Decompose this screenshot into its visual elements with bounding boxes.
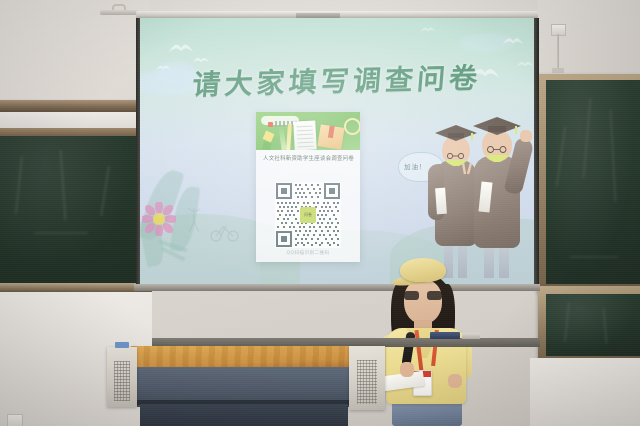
document-icon xyxy=(293,120,316,150)
graduate-glasses-icon xyxy=(446,146,466,152)
projected-slide: 请大家填写调查问卷 人文社科新资助学生座谈会调查问卷 xyxy=(140,18,534,284)
classroom-photo: 请大家填写调查问卷 人文社科新资助学生座谈会调查问卷 xyxy=(0,0,640,426)
desk-object-light xyxy=(462,333,480,339)
pencil-icon xyxy=(286,124,292,150)
lectern-lower-panel xyxy=(140,404,348,426)
screen-mount xyxy=(100,10,138,15)
book-icon xyxy=(317,124,344,149)
power-outlet[interactable] xyxy=(7,414,23,426)
bicycle-silhouette-icon xyxy=(210,222,240,247)
presenter-cap xyxy=(400,258,446,282)
wall-trim-rail-left xyxy=(0,100,152,112)
graduate-glasses-icon xyxy=(486,140,508,147)
presenter-face xyxy=(404,280,442,324)
upper-wall-left xyxy=(0,0,150,104)
fixture-base xyxy=(552,68,564,73)
speaker-right xyxy=(349,346,385,410)
clock-icon xyxy=(344,118,360,135)
presenter-hand-right xyxy=(448,374,462,388)
speaker-grille xyxy=(357,360,377,404)
peace-sign-hand xyxy=(460,160,474,178)
flower-shape xyxy=(142,202,176,236)
blackboard-left xyxy=(0,136,150,286)
screen-edge-right xyxy=(534,18,539,286)
bird-silhouette-icon xyxy=(420,26,436,34)
bird-silhouette-icon xyxy=(502,36,524,47)
fixture-rod xyxy=(557,34,559,70)
slide-title: 请大家填写调查问卷 xyxy=(140,55,534,105)
blackboard-frame-right-lower xyxy=(538,286,640,360)
presenter-glasses-icon xyxy=(404,291,442,300)
graduate-hand xyxy=(520,130,532,142)
bird-silhouette-icon xyxy=(168,42,194,55)
blackboard-frame-right-upper xyxy=(538,74,640,292)
desk-object-dark xyxy=(430,332,460,339)
pedestrian-silhouette-icon xyxy=(184,204,204,239)
qr-footer-hint: QQ扫描识别二维码 xyxy=(256,250,360,256)
lower-wall-right xyxy=(530,358,640,426)
graduates-illustration: 加油！ xyxy=(398,102,532,278)
presenter-hand-left xyxy=(400,362,414,377)
qr-center-logo: 问卷 xyxy=(300,207,316,223)
upper-wall-right xyxy=(538,0,640,78)
survey-question-title: 人文社科新资助学生座谈会调查问卷 xyxy=(263,155,355,164)
speaker-left xyxy=(107,347,137,407)
lectern-wood-top xyxy=(131,346,353,368)
card-header-illustration xyxy=(256,112,360,150)
decor-square-icon xyxy=(262,141,271,150)
diploma-scroll xyxy=(435,188,447,215)
graduation-cap-icon xyxy=(472,116,522,136)
speaker-grille xyxy=(114,361,130,401)
speaker-indicator xyxy=(115,342,129,348)
logo-dot-icon xyxy=(268,122,273,127)
survey-qr-card[interactable]: 人文社科新资助学生座谈会调查问卷 xyxy=(256,112,360,262)
